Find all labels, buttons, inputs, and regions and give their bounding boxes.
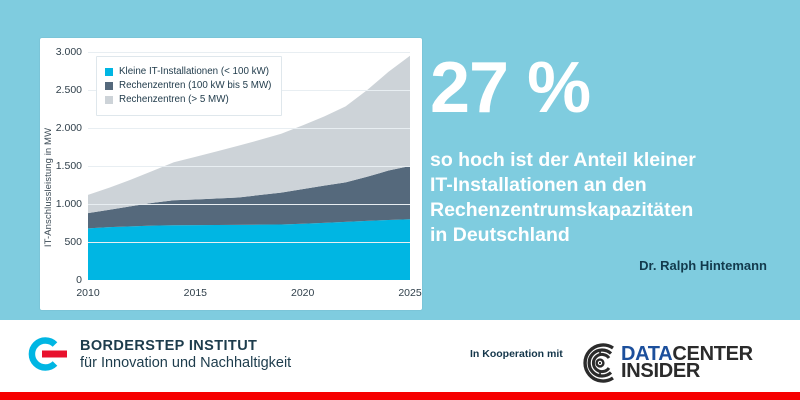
grid-line bbox=[88, 242, 410, 243]
borderstep-ring-icon bbox=[22, 334, 68, 374]
chart-legend: Kleine IT-Installationen (< 100 kW) Rech… bbox=[96, 56, 282, 116]
x-axis-tick: 2015 bbox=[184, 287, 207, 299]
borderstep-logo: BORDERSTEP INSTITUT für Innovation und N… bbox=[22, 334, 291, 374]
datacenter-line-2: INSIDER bbox=[621, 363, 753, 380]
borderstep-wordmark: BORDERSTEP INSTITUT für Innovation und N… bbox=[80, 338, 291, 371]
grid-line bbox=[88, 52, 410, 53]
legend-item-dc-medium: Rechenzentren (100 kW bis 5 MW) bbox=[105, 80, 271, 91]
datacenter-wordmark: DATACENTER INSIDER bbox=[621, 346, 753, 380]
datacenter-radar-svg bbox=[575, 342, 623, 384]
callout-line-2: IT-Installationen an den bbox=[430, 173, 775, 198]
legend-swatch-dc-medium bbox=[105, 82, 113, 90]
y-axis-tick: 500 bbox=[64, 236, 82, 248]
x-axis-tick: 2010 bbox=[76, 287, 99, 299]
grid-line bbox=[88, 166, 410, 167]
y-axis-tick: 1.000 bbox=[56, 198, 82, 210]
callout-line-3: Rechenzentrumskapazitäten bbox=[430, 198, 775, 223]
y-axis-label-text: IT-Anschlussleistung in MW bbox=[44, 127, 55, 246]
borderstep-name: BORDERSTEP INSTITUT bbox=[80, 338, 291, 354]
borderstep-tagline: für Innovation und Nachhaltigkeit bbox=[80, 355, 291, 371]
y-axis-tick: 0 bbox=[76, 274, 82, 286]
legend-label-small-it: Kleine IT-Installationen (< 100 kW) bbox=[119, 66, 269, 77]
cooperation-label: In Kooperation mit bbox=[470, 348, 563, 360]
chart-inner: IT-Anschlussleistung in MW 05001.0001.50… bbox=[40, 38, 422, 310]
footer-bar: BORDERSTEP INSTITUT für Innovation und N… bbox=[0, 320, 800, 400]
callout-description: so hoch ist der Anteil kleiner IT-Instal… bbox=[430, 148, 775, 248]
y-axis-tick: 1.500 bbox=[56, 160, 82, 172]
infographic-canvas: IT-Anschlussleistung in MW 05001.0001.50… bbox=[0, 0, 800, 400]
legend-label-dc-medium: Rechenzentren (100 kW bis 5 MW) bbox=[119, 80, 271, 91]
stat-percentage: 27 % bbox=[430, 52, 775, 124]
y-axis-tick: 3.000 bbox=[56, 46, 82, 58]
borderstep-ring-svg bbox=[22, 334, 68, 374]
y-axis-tick: 2.500 bbox=[56, 84, 82, 96]
x-axis-tick: 2020 bbox=[291, 287, 314, 299]
legend-label-dc-large: Rechenzentren (> 5 MW) bbox=[119, 94, 229, 105]
legend-swatch-small-it bbox=[105, 68, 113, 76]
callout-line-1: so hoch ist der Anteil kleiner bbox=[430, 148, 775, 173]
datacenter-insider-logo: DATACENTER INSIDER bbox=[575, 342, 753, 384]
grid-line bbox=[88, 128, 410, 129]
grid-line bbox=[88, 204, 410, 205]
y-axis-label: IT-Anschlussleistung in MW bbox=[35, 38, 63, 310]
x-axis-tick: 2025 bbox=[398, 287, 421, 299]
datacenter-radar-icon bbox=[575, 342, 623, 384]
callout-line-4: in Deutschland bbox=[430, 223, 775, 248]
legend-item-small-it: Kleine IT-Installationen (< 100 kW) bbox=[105, 66, 271, 77]
footer-accent-bar bbox=[0, 392, 800, 400]
callout-author: Dr. Ralph Hintemann bbox=[430, 258, 775, 273]
chart-card: IT-Anschlussleistung in MW 05001.0001.50… bbox=[40, 38, 422, 310]
legend-item-dc-large: Rechenzentren (> 5 MW) bbox=[105, 94, 271, 105]
area-band bbox=[88, 219, 410, 280]
legend-swatch-dc-large bbox=[105, 96, 113, 104]
y-axis-tick: 2.000 bbox=[56, 122, 82, 134]
callout-block: 27 % so hoch ist der Anteil kleiner IT-I… bbox=[430, 52, 775, 273]
